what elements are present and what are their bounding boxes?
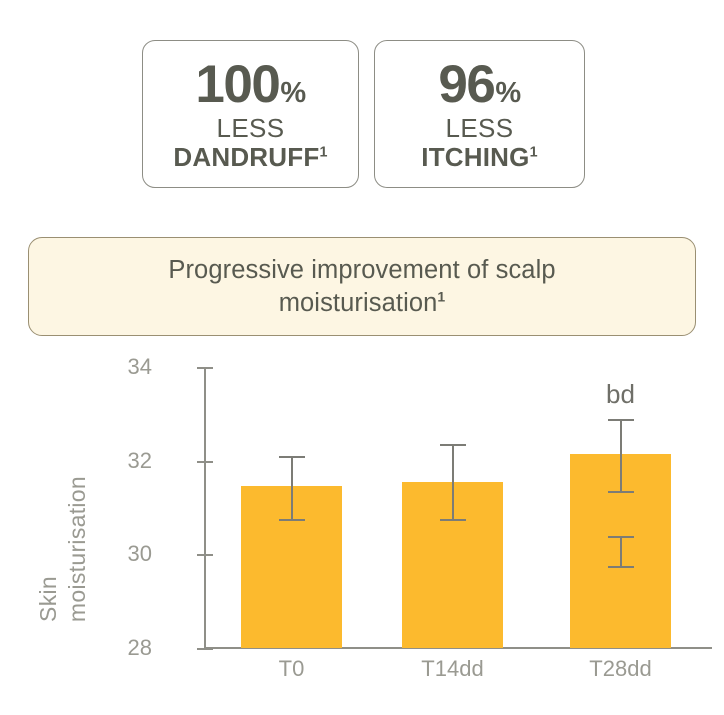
error-bar-cap-T28dd-lower: [608, 491, 634, 493]
chart-title-line1: Progressive improvement of scalp: [168, 256, 555, 284]
secondary-error-bar-T28dd: [620, 536, 622, 566]
error-bar-cap-T0-lower: [279, 519, 305, 521]
secondary-error-bar-cap-T28dd-upper: [608, 536, 634, 538]
chart-title-banner: Progressive improvement of scalpmoisturi…: [28, 237, 696, 336]
stat-target: DANDRUFF1: [173, 143, 327, 172]
stat-card-itching: 96 % LESS ITCHING1: [374, 40, 585, 188]
y-axis-line: [204, 367, 206, 649]
stat-value-line: 100 %: [195, 58, 305, 111]
y-tick-labels: 28303234: [104, 336, 152, 715]
y-tick-label: 34: [104, 354, 152, 380]
error-bar-cap-T14dd-lower: [440, 519, 466, 521]
stat-target-label: ITCHING: [421, 142, 529, 172]
stat-unit: %: [495, 79, 520, 108]
y-tick-label: 28: [104, 635, 152, 661]
stat-footnote-marker: 1: [530, 144, 538, 160]
stat-subtitle: LESS: [216, 114, 284, 143]
secondary-error-bar-cap-T28dd-lower: [608, 566, 634, 568]
stat-value-line: 96 %: [438, 58, 520, 111]
chart-title-line2: moisturisation: [279, 289, 438, 317]
y-tick-label: 30: [104, 541, 152, 567]
plot-area: 28303234 T0T14ddT28ddbd: [0, 336, 724, 715]
x-tick-label-T14dd: T14dd: [421, 656, 483, 682]
y-tick-mark: [197, 554, 213, 556]
stat-target: ITCHING1: [421, 143, 537, 172]
error-bar-T14dd: [452, 444, 454, 519]
bar-chart: Skin moisturisation 28303234 T0T14ddT28d…: [0, 336, 724, 715]
chart-title-text: Progressive improvement of scalpmoisturi…: [128, 254, 595, 319]
x-tick-label-T0: T0: [279, 656, 305, 682]
stat-target-label: DANDRUFF: [173, 142, 319, 172]
stat-value: 96: [438, 58, 494, 111]
stat-value: 100: [195, 58, 279, 111]
error-bar-T28dd: [620, 419, 622, 492]
y-tick-mark: [197, 648, 213, 650]
stat-card-dandruff: 100 % LESS DANDRUFF1: [142, 40, 359, 188]
error-bar-cap-T28dd-upper: [608, 419, 634, 421]
stat-subtitle: LESS: [445, 114, 513, 143]
chart-title-footnote-marker: 1: [437, 288, 445, 304]
error-bar-cap-T14dd-upper: [440, 444, 466, 446]
error-bar-cap-T0-upper: [279, 456, 305, 458]
stat-footnote-marker: 1: [319, 144, 327, 160]
y-tick-label: 32: [104, 448, 152, 474]
x-tick-label-T28dd: T28dd: [589, 656, 651, 682]
stat-unit: %: [280, 79, 305, 108]
y-tick-mark: [197, 367, 213, 369]
bar-annotation-T28dd: bd: [606, 379, 635, 410]
stats-row: 100 % LESS DANDRUFF1 96 % LESS ITCHING1: [0, 0, 724, 200]
error-bar-T0: [291, 456, 293, 519]
y-tick-mark: [197, 461, 213, 463]
